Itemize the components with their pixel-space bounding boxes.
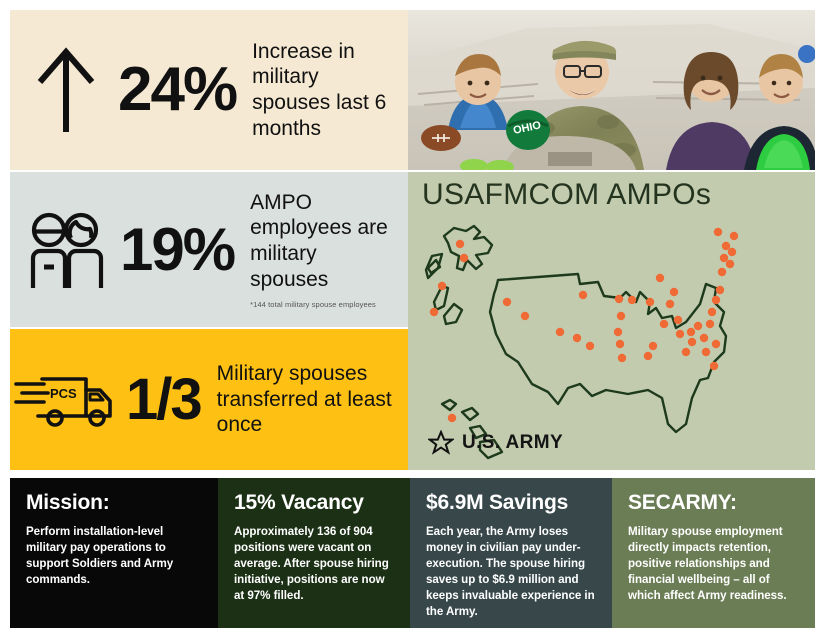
panel-title-mission: Mission: [26, 492, 204, 514]
panel-body-vacancy: Approximately 136 of 904 positions were … [234, 524, 396, 604]
usafmcom-ampo-map: USAFMCOM AMPOs [408, 172, 815, 470]
up-arrow-icon [10, 46, 122, 134]
stat-text-increase: Increase in military spouses last 6 mont… [252, 39, 408, 141]
bottom-panel-vacancy: 15% Vacancy Approximately 136 of 904 pos… [218, 478, 410, 628]
bottom-panel-secarmy: SECARMY: Military spouse employment dire… [612, 478, 815, 628]
army-star-icon [428, 430, 454, 456]
stat-text-ampo: AMPO employees are military spouses [250, 190, 402, 292]
stat-footnote-ampo: *144 total military spouse employees [250, 300, 402, 309]
infographic-page: 24% Increase in military spouses last 6 … [0, 0, 825, 638]
two-people-icon [10, 208, 122, 292]
panel-body-mission: Perform installation-level military pay … [26, 524, 204, 588]
bottom-panel-savings: $6.9M Savings Each year, the Army loses … [410, 478, 612, 628]
svg-text:PCS: PCS [50, 386, 77, 401]
panel-title-vacancy: 15% Vacancy [234, 492, 396, 514]
army-logo: U.S. ARMY [428, 430, 563, 456]
panel-body-secarmy: Military spouse employment directly impa… [628, 524, 801, 604]
army-logo-text: U.S. ARMY [462, 432, 563, 454]
panel-title-savings: $6.9M Savings [426, 492, 598, 514]
stat-number-increase: 24% [118, 59, 236, 121]
family-photo: OHIO [408, 10, 815, 170]
stat-number-pcs: 1/3 [126, 371, 201, 429]
panel-body-savings: Each year, the Army loses money in civil… [426, 524, 598, 620]
panel-title-secarmy: SECARMY: [628, 492, 801, 514]
stat-panel-ampo: 19% AMPO employees are military spouses … [10, 172, 408, 327]
pcs-moving-truck-icon: PCS [10, 368, 122, 432]
bottom-panel-mission: Mission: Perform installation-level mili… [10, 478, 218, 628]
stat-panel-pcs: PCS 1/3 Military spouses transferred at … [10, 329, 408, 470]
stat-panel-increase: 24% Increase in military spouses last 6 … [10, 10, 408, 170]
stat-text-pcs: Military spouses transferred at least on… [217, 361, 408, 438]
stat-text-block-ampo: AMPO employees are military spouses *144… [250, 190, 408, 309]
stat-number-ampo: 19% [120, 220, 234, 280]
